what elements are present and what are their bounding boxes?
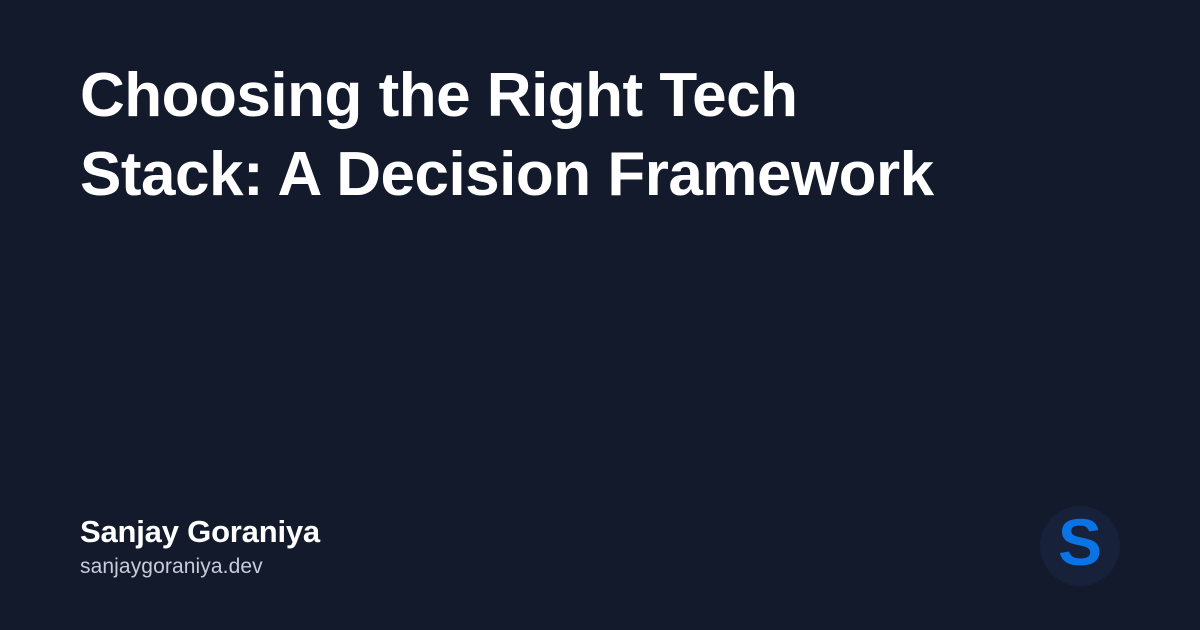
- author-site-url: sanjaygoraniya.dev: [80, 554, 320, 580]
- title-block: Choosing the Right Tech Stack: A Decisio…: [80, 56, 960, 214]
- author-block: Sanjay Goraniya sanjaygoraniya.dev: [80, 513, 320, 580]
- brand-s-monogram-icon: S: [1052, 513, 1108, 579]
- og-image-card: Choosing the Right Tech Stack: A Decisio…: [0, 0, 1200, 630]
- brand-logo: S: [1040, 506, 1120, 586]
- author-name: Sanjay Goraniya: [80, 513, 320, 551]
- card-footer: Sanjay Goraniya sanjaygoraniya.dev S: [80, 506, 1120, 586]
- svg-text:S: S: [1058, 513, 1102, 579]
- page-title: Choosing the Right Tech Stack: A Decisio…: [80, 56, 960, 214]
